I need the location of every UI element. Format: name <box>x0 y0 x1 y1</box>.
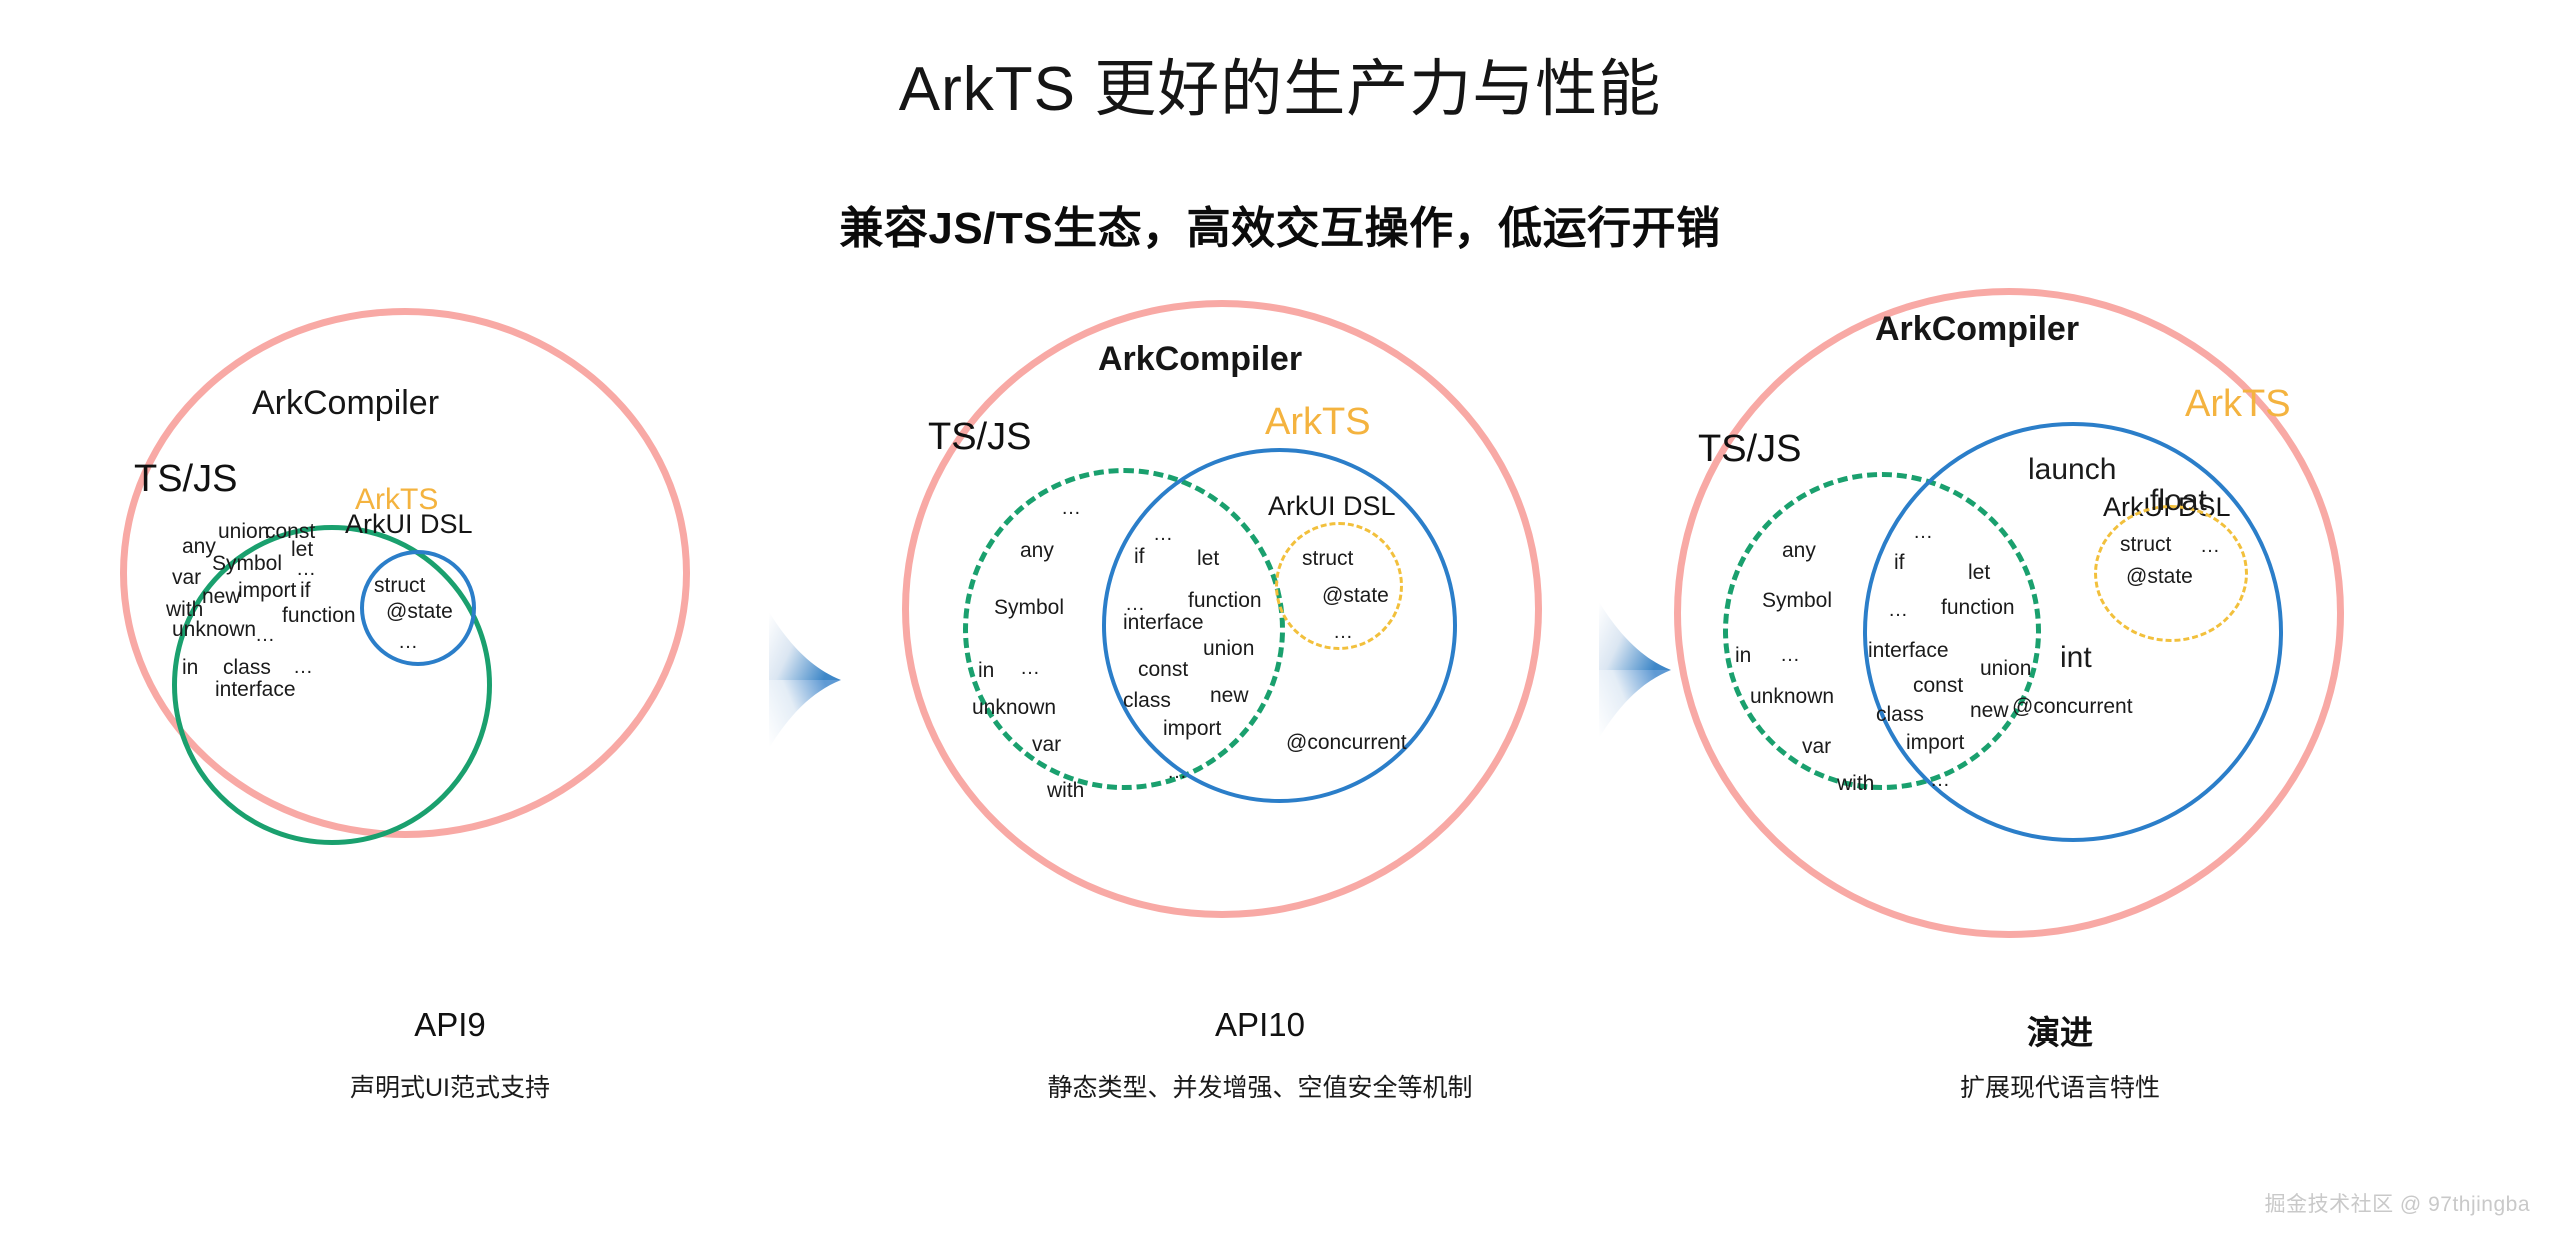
keyword: @state <box>1322 585 1389 606</box>
keyword: import <box>238 580 296 601</box>
keyword: any <box>1020 540 1054 561</box>
keyword: import <box>1163 718 1221 739</box>
keyword: … <box>1780 645 1802 665</box>
keyword: struct <box>1302 548 1353 569</box>
label-arkcompiler: ArkCompiler <box>1098 342 1302 376</box>
keyword: class <box>1123 690 1171 711</box>
keyword: in <box>978 660 994 681</box>
arrow-api9-to-api10 <box>755 610 845 750</box>
keyword: union <box>1980 658 2031 679</box>
keyword: … <box>1153 524 1175 544</box>
keyword: class <box>1876 704 1924 725</box>
keyword: in <box>1735 645 1751 666</box>
keyword: with <box>1047 780 1084 801</box>
keyword: … <box>1888 600 1910 620</box>
keyword: import <box>1906 732 1964 753</box>
keyword: with <box>166 599 203 620</box>
label-tsjs: TS/JS <box>1698 430 1801 468</box>
keyword: Symbol <box>212 553 282 574</box>
panel-caption-title: 演进 <box>1660 1006 2460 1054</box>
keyword: function <box>282 605 356 626</box>
keyword: int <box>2060 643 2092 673</box>
keyword: @state <box>2126 566 2193 587</box>
keyword: union <box>1203 638 1254 659</box>
label-arkui-dsl: ArkUI DSL <box>345 511 473 538</box>
keyword: interface <box>215 679 296 700</box>
keyword: … <box>398 632 420 652</box>
keyword: … <box>2200 536 2222 556</box>
keyword: launch <box>2028 455 2116 485</box>
keyword: let <box>1968 562 1990 583</box>
keyword: struct <box>374 575 425 596</box>
keyword: unknown <box>1750 686 1834 707</box>
panel-caption-title: API9 <box>110 1006 790 1044</box>
panel-caption-subtitle: 静态类型、并发增强、空值安全等机制 <box>880 1068 1640 1104</box>
venn-diagram-api9: ArkCompiler TS/JS ArkTS ArkUI DSL union … <box>110 300 790 1000</box>
keyword: … <box>293 657 315 677</box>
label-arkts: ArkTS <box>1265 403 1371 441</box>
keyword: Symbol <box>994 597 1064 618</box>
keyword: if <box>1894 552 1905 573</box>
panel-evolution: ArkCompiler TS/JS ArkTS ArkUI DSL any Sy… <box>1660 300 2460 1160</box>
watermark: 掘金技术社区 @ 97thjingba <box>2265 1188 2530 1218</box>
panel-api10: ArkCompiler TS/JS ArkTS ArkUI DSL any Sy… <box>880 300 1640 1160</box>
keyword: … <box>1913 522 1935 542</box>
keyword: const <box>1913 675 1963 696</box>
keyword: new <box>1210 685 1249 706</box>
keyword: with <box>1837 773 1874 794</box>
keyword: … <box>296 559 318 579</box>
keyword: @state <box>386 601 453 622</box>
venn-diagram-evolution: ArkCompiler TS/JS ArkTS ArkUI DSL any Sy… <box>1660 300 2460 1000</box>
panel-caption-subtitle: 扩展现代语言特性 <box>1660 1068 2460 1104</box>
keyword: @concurrent <box>1286 732 1407 753</box>
venn-diagram-api10: ArkCompiler TS/JS ArkTS ArkUI DSL any Sy… <box>880 300 1640 1000</box>
keyword: const <box>1138 659 1188 680</box>
keyword: union <box>218 521 269 542</box>
slide-root: ArkTS 更好的生产力与性能 兼容JS/TS生态，高效交互操作，低运行开销 A… <box>0 0 2560 1236</box>
keyword: any <box>182 536 216 557</box>
label-tsjs: TS/JS <box>134 460 237 498</box>
label-arkcompiler: ArkCompiler <box>1875 312 2079 346</box>
keyword: … <box>1167 762 1189 782</box>
label-arkcompiler: ArkCompiler <box>252 386 439 420</box>
keyword: new <box>202 586 241 607</box>
keyword: new <box>1970 700 2009 721</box>
label-tsjs: TS/JS <box>928 418 1031 456</box>
keyword: var <box>172 567 201 588</box>
keyword: function <box>1941 597 2015 618</box>
page-title: ArkTS 更好的生产力与性能 <box>0 38 2560 128</box>
keyword: … <box>1061 498 1083 518</box>
keyword: float <box>2150 486 2207 516</box>
keyword: … <box>1930 770 1952 790</box>
keyword: … <box>1333 622 1355 642</box>
keyword: function <box>1188 590 1262 611</box>
keyword: … <box>1020 658 1042 678</box>
keyword: Symbol <box>1762 590 1832 611</box>
label-arkts: ArkTS <box>2185 385 2291 423</box>
keyword: … <box>255 625 277 645</box>
keyword: unknown <box>972 697 1056 718</box>
keyword: struct <box>2120 534 2171 555</box>
keyword: any <box>1782 540 1816 561</box>
keyword: let <box>1197 548 1219 569</box>
keyword: let <box>291 539 313 560</box>
keyword: interface <box>1868 640 1949 661</box>
keyword: unknown <box>172 619 256 640</box>
label-arkui-dsl: ArkUI DSL <box>1268 493 1396 520</box>
page-subtitle: 兼容JS/TS生态，高效交互操作，低运行开销 <box>0 192 2560 256</box>
panel-api9: ArkCompiler TS/JS ArkTS ArkUI DSL union … <box>110 300 790 1160</box>
panel-caption-title: API10 <box>880 1006 1640 1044</box>
keyword: @concurrent <box>2012 696 2133 717</box>
panel-caption-subtitle: 声明式UI范式支持 <box>110 1068 790 1104</box>
keyword: var <box>1032 734 1061 755</box>
keyword: if <box>1134 546 1145 567</box>
keyword: class <box>223 657 271 678</box>
keyword: if <box>300 580 311 601</box>
keyword: in <box>182 657 198 678</box>
keyword: var <box>1802 736 1831 757</box>
keyword: interface <box>1123 612 1204 633</box>
